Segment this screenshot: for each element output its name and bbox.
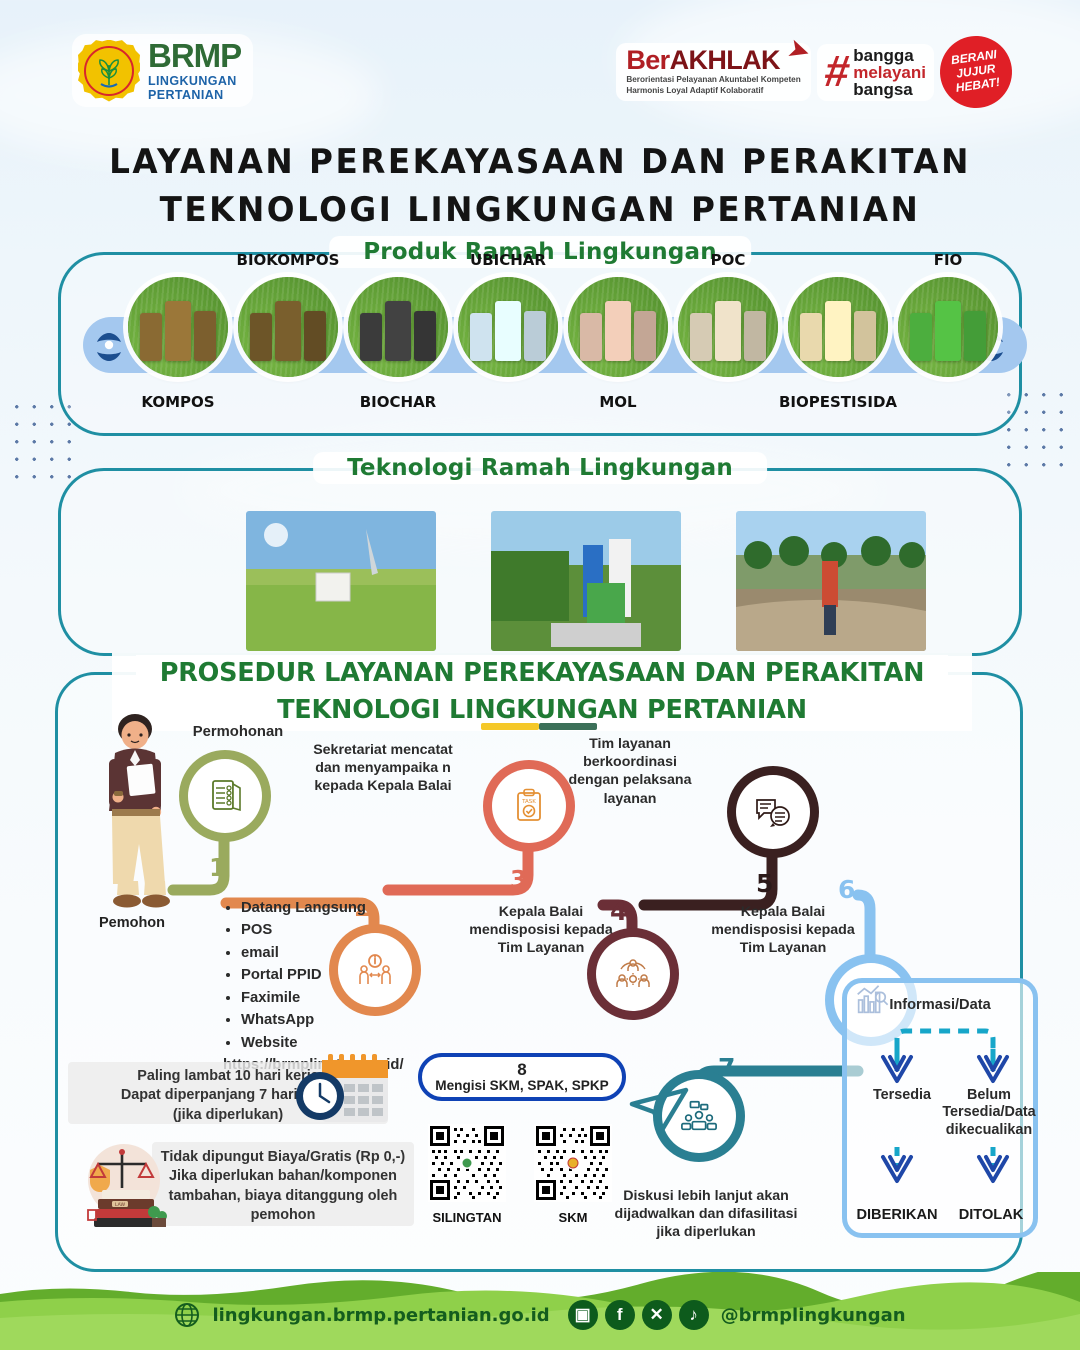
fee-note-box: Tidak dipungut Biaya/Gratis (Rp 0,-) Jik… [152, 1142, 414, 1226]
svg-text:LAW: LAW [115, 1202, 126, 1208]
channel-item: Portal PPID [241, 964, 404, 986]
berakhlak-tagline-2: Harmonis Loyal Adaptif Kolaboratif [626, 86, 800, 96]
globe-icon [174, 1302, 200, 1328]
product-item: KOMPOS [123, 277, 233, 377]
product-item: BIOCHAR [343, 277, 453, 377]
step-1-number: 1 [209, 853, 226, 882]
technology-section: Teknologi Ramah Lingkungan MITIGASI GRKR… [58, 468, 1022, 656]
footer-website[interactable]: lingkungan.brmp.pertanian.go.id [212, 1305, 549, 1326]
partner-logos: ➤ BerAKHLAK Berorientasi Pelayanan Akunt… [616, 36, 1012, 108]
chat-document-icon [753, 792, 793, 832]
product-item: UBICHAR [453, 277, 563, 377]
fee-note-line3: tambahan, biaya ditanggung oleh [152, 1187, 414, 1206]
qr-skm-caption: SKM [528, 1210, 618, 1225]
submission-channels: Datang LangsungPOSemailPortal PPIDFaximi… [223, 897, 404, 1077]
bangga-line2: melayani [853, 64, 926, 81]
brmp-sub-line2: PERTANIAN [148, 88, 241, 102]
qr-silingtan-glyph [428, 1124, 506, 1202]
channel-item: WhatsApp [241, 1009, 404, 1031]
social-icon-list: ▣f✕♪ [568, 1300, 709, 1330]
page-footer: lingkungan.brmp.pertanian.go.id ▣f✕♪ @br… [0, 1272, 1080, 1350]
decision-heading: Informasi/Data [847, 997, 1033, 1013]
step-3-number: 3 [510, 865, 527, 894]
qr-silingtan-caption: SILINGTAN [422, 1210, 512, 1225]
product-item: MOL [563, 277, 673, 377]
step-7-number: 7 [718, 1053, 735, 1082]
decision-branch-left: Tersedia [853, 1087, 951, 1103]
decision-branch-right-line3: dikecualikan [941, 1122, 1037, 1139]
step-3-node[interactable]: TASK [492, 769, 566, 843]
decision-result-right: DITOLAK [943, 1207, 1039, 1223]
page-title-line1: LAYANAN PEREKAYASAAN DAN PERAKITAN [22, 138, 1059, 186]
product-image [348, 277, 448, 377]
product-label: BIOCHAR [360, 393, 437, 411]
products-section: Produk Ramah Lingkungan KOMPOSBIOKOMPOSB… [58, 252, 1022, 436]
technology-photo [246, 511, 436, 651]
technology-section-title: Teknologi Ramah Lingkungan [313, 452, 767, 484]
survey-box-text: Mengisi SKM, SPAK, SPKP [435, 1078, 608, 1093]
tiktok-icon[interactable]: ♪ [679, 1300, 709, 1330]
decision-branch-right-line2: Tersedia/Data [941, 1104, 1037, 1121]
technology-photo [491, 511, 681, 651]
product-label: BIOKOMPOS [237, 251, 340, 269]
berakhlak-part1: Ber [626, 45, 669, 75]
procedure-title: PROSEDUR LAYANAN PEREKAYASAAN DAN PERAKI… [58, 653, 1026, 731]
pointer-arrow-icon [628, 1078, 690, 1138]
product-label: BIOPESTISIDA [779, 393, 897, 411]
qr-code-silingtan[interactable] [428, 1124, 506, 1202]
product-image [568, 277, 668, 377]
berakhlak-tagline-1: Berorientasi Pelayanan Akuntabel Kompete… [626, 75, 800, 85]
bangga-line3: bangsa [853, 81, 926, 98]
product-image [898, 277, 998, 377]
fee-note-line1: Tidak dipungut Biaya/Gratis (Rp 0,-) [152, 1148, 414, 1167]
channel-item: Datang Langsung [241, 897, 404, 919]
step-6-number: 6 [838, 875, 855, 904]
product-image [788, 277, 888, 377]
step-4-number: 4 [610, 897, 627, 926]
decision-result-left: DIBERIKAN [847, 1207, 947, 1223]
product-label: POC [711, 251, 746, 269]
task-clipboard-icon: TASK [509, 786, 549, 826]
product-image [458, 277, 558, 377]
step-5-text: Kepala Balai mendisposisi kepada Tim Lay… [708, 903, 858, 958]
product-item: POC [673, 277, 783, 377]
page-title: LAYANAN PEREKAYASAAN DAN PERAKITAN TEKNO… [22, 138, 1059, 235]
decision-result-arrows [861, 1145, 1029, 1201]
facebook-icon[interactable]: f [605, 1300, 635, 1330]
applicant-label: Pemohon [72, 915, 192, 931]
title-divider [481, 723, 597, 730]
decision-split-arrows [861, 1025, 1029, 1095]
step-4-node[interactable] [596, 937, 670, 1011]
survey-step-number: 8 [517, 1061, 526, 1079]
decision-branch-right-line1: Belum [941, 1087, 1037, 1104]
berakhlak-logo: ➤ BerAKHLAK Berorientasi Pelayanan Akunt… [616, 43, 810, 101]
product-image [128, 277, 228, 377]
step-1-node[interactable] [188, 759, 262, 833]
arrow-left-icon [95, 331, 123, 363]
brmp-wordmark: BRMP [148, 39, 241, 72]
fee-note-line2: Jika diperlukan bahan/komponen [152, 1167, 414, 1186]
product-item: BIOKOMPOS [233, 277, 343, 377]
step-3-text: Kepala Balai mendisposisi kepada Tim Lay… [466, 903, 616, 958]
technology-photo [736, 511, 926, 651]
product-image [238, 277, 338, 377]
calendar-clock-icon [288, 1052, 392, 1130]
product-item: BIOPESTISIDA [783, 277, 893, 377]
applicant-illustration [90, 713, 180, 918]
product-item: FIO [893, 277, 1003, 377]
channel-item: email [241, 942, 404, 964]
berani-jujur-hebat-logo: BERANI JUJUR HEBAT! [935, 31, 1016, 112]
step-7-text: Diskusi lebih lanjut akan dijadwalkan da… [606, 1187, 806, 1242]
berakhlak-part2: AKHLAK [670, 45, 780, 75]
page-title-line2: TEKNOLOGI LINGKUNGAN PERTANIAN [22, 186, 1059, 234]
svg-text:TASK: TASK [521, 799, 536, 805]
instagram-icon[interactable]: ▣ [568, 1300, 598, 1330]
bangga-melayani-bangsa-logo: # bangga melayani bangsa [817, 44, 934, 101]
bangga-line1: bangga [853, 47, 926, 64]
law-books-icon: LAW [72, 1140, 172, 1230]
step-2-text: Sekretariat mencatat dan menyampaika n k… [313, 741, 453, 796]
product-label: MOL [599, 393, 636, 411]
procedure-title-line1: PROSEDUR LAYANAN PEREKAYASAAN DAN PERAKI… [136, 655, 949, 692]
products-list: KOMPOSBIOKOMPOSBIOCHARUBICHARMOLPOCBIOPE… [123, 277, 1003, 377]
team-collaboration-icon [613, 954, 653, 994]
product-image [678, 277, 778, 377]
channel-item: Faximile [241, 987, 404, 1009]
step-4-text: Tim layanan berkoordinasi dengan pelaksa… [560, 735, 700, 808]
brmp-logo: BRMP LINGKUNGAN PERTANIAN [72, 34, 253, 107]
permohonan-label: Permohonan [168, 723, 308, 742]
step-5-node[interactable] [736, 775, 810, 849]
x-twitter-icon[interactable]: ✕ [642, 1300, 672, 1330]
fee-note-line4: pemohon [152, 1206, 414, 1225]
kementan-seal-icon [78, 40, 140, 102]
product-label: UBICHAR [470, 251, 546, 269]
qr-code-skm[interactable] [534, 1124, 612, 1202]
footer-handle: @brmplingkungan [721, 1305, 906, 1326]
page-header: BRMP LINGKUNGAN PERTANIAN ➤ BerAKHLAK Be… [0, 0, 1080, 130]
footer-contacts: lingkungan.brmp.pertanian.go.id ▣f✕♪ @br… [0, 1300, 1080, 1330]
hashtag-icon: # [822, 53, 852, 90]
brmp-sub-line1: LINGKUNGAN [148, 74, 241, 88]
product-label: FIO [934, 251, 963, 269]
documents-icon [205, 776, 245, 816]
plant-glyph [89, 51, 129, 91]
product-label: KOMPOS [141, 393, 214, 411]
step-5-number: 5 [756, 869, 773, 898]
qr-skm-glyph [534, 1124, 612, 1202]
decision-box: Informasi/Data Tersedia Belum Tersedia/D… [842, 978, 1038, 1238]
survey-box[interactable]: 8 Mengisi SKM, SPAK, SPKP [418, 1053, 626, 1101]
berakhlak-tick-icon: ➤ [785, 34, 813, 68]
channel-item: POS [241, 919, 404, 941]
